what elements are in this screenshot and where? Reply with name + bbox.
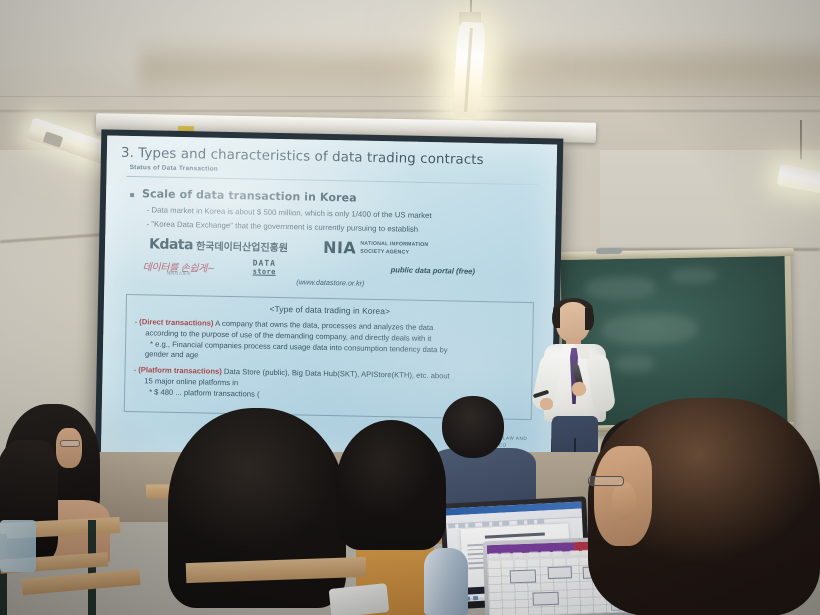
smartphone[interactable] [329,583,390,615]
center-person-hair [336,420,446,550]
content-line-accent: (Platform transactions) [138,365,222,376]
blue-shirt-head [442,396,504,458]
diagram-node-2 [548,566,572,579]
ceiling-seam-upper [0,96,820,97]
nia-line-2: SOCIETY AGENCY [360,248,409,255]
content-line-text: gender and age [145,350,199,360]
content-line-text: $ 480 ... platform transactions ( [154,387,260,398]
presenter-hair-right [585,308,594,330]
foreground-person-right [588,398,820,615]
woman-left-face [56,428,82,468]
datastore-logo: DATA store [252,258,276,275]
nia-mark: NIA [323,238,357,258]
slide-section-heading: Scale of data transaction in Korea [142,187,357,204]
seated-person-center-left [168,408,346,615]
content-line-accent: (Direct transactions) [139,317,213,327]
content-line-text: 15 major online platforms in [144,376,238,387]
kdata-korean-name: 한국데이터산업진흥원 [196,237,288,254]
slide-section-heading-row: Scale of data transaction in Korea [130,187,542,208]
kdata-logo: Kdata 한국데이터산업진흥원 [149,236,288,255]
nia-logo: NIA NATIONAL INFORMATION SOCIETY AGENCY [323,238,429,259]
presenter-hair-left [552,308,560,328]
public-data-portal-label: public data portal (free) [391,265,476,276]
lecture-chair-3 [22,569,141,595]
ceiling-seam [0,110,820,112]
handwritten-korean-subtext: 데이터스토어 [166,271,190,277]
blue-jug [0,520,36,572]
slide-logo-row: Kdata 한국데이터산업진흥원 NIA NATIONAL INFORMATIO… [118,234,541,300]
kdata-mark: Kdata [149,236,193,253]
presenter-hand-left [540,398,553,410]
classroom-photo-scene: 3. Types and characteristics of data tra… [0,0,820,615]
square-bullet-icon [130,193,134,197]
diagram-node-1 [510,570,536,584]
content-box-caption: <Type of data trading in Korea> [135,301,525,319]
datastore-line-1: DATA [253,258,276,267]
chalkboard-clip [596,248,622,254]
datastore-url: (www.datastore.or.kr) [296,277,364,287]
woman-left-glasses-icon [60,440,80,447]
foreground-right-glasses-icon [588,476,624,486]
slide-dash-point-2: - "Korea Data Exchange" that the governm… [146,219,541,236]
diagram-node-4 [532,592,558,606]
foreground-right-ear [612,482,636,520]
datastore-line-2: store [252,267,275,275]
content-box-lines: - (Direct transactions) A company that o… [133,317,525,405]
